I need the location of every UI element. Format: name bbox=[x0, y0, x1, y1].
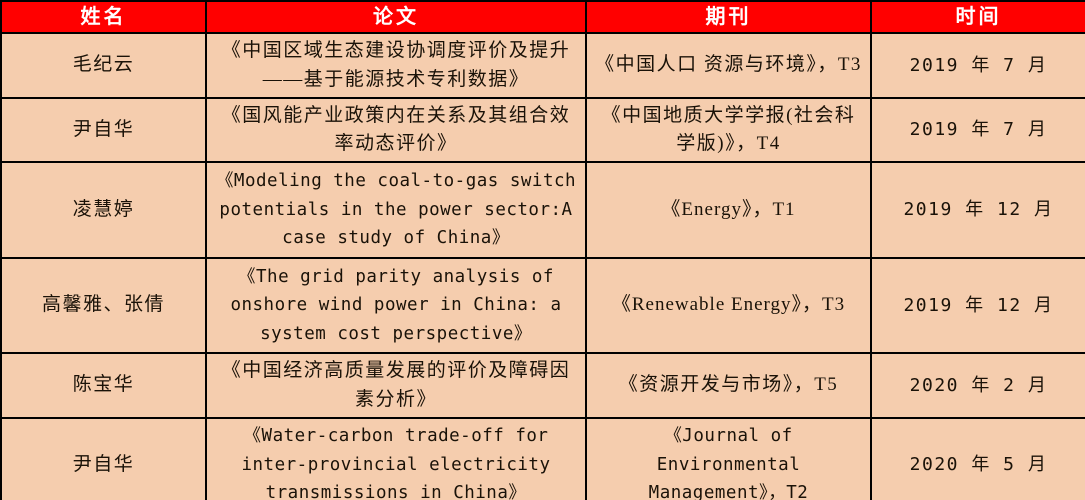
cell-paper: 《Modeling the coal-to-gas switch potenti… bbox=[206, 162, 586, 258]
table-row: 尹自华 《Water-carbon trade-off for inter-pr… bbox=[1, 418, 1085, 500]
cell-paper: 《中国区域生态建设协调度评价及提升——基于能源技术专利数据》 bbox=[206, 33, 586, 98]
cell-journal: 《中国地质大学学报(社会科学版)》，T4 bbox=[586, 98, 871, 162]
date-text: 2019 年 12 月 bbox=[903, 199, 1053, 220]
table-row: 尹自华 《国风能产业政策内在关系及其组合效率动态评价》 《中国地质大学学报(社会… bbox=[1, 98, 1085, 162]
date-text: 2019 年 12 月 bbox=[903, 295, 1053, 316]
header-row: 姓名 论文 期刊 时间 bbox=[1, 1, 1085, 33]
date-text: 2020 年 2 月 bbox=[910, 375, 1048, 396]
cell-author: 陈宝华 bbox=[1, 353, 206, 418]
cell-time: 2019 年 7 月 bbox=[871, 98, 1085, 162]
column-header-journal: 期刊 bbox=[586, 1, 871, 33]
table-row: 毛纪云 《中国区域生态建设协调度评价及提升——基于能源技术专利数据》 《中国人口… bbox=[1, 33, 1085, 98]
cell-journal: 《Journal of Environmental Management》，T2 bbox=[586, 418, 871, 500]
cell-time: 2019 年 12 月 bbox=[871, 162, 1085, 258]
cell-journal: 《Renewable Energy》，T3 bbox=[586, 258, 871, 353]
cell-time: 2019 年 7 月 bbox=[871, 33, 1085, 98]
cell-time: 2020 年 2 月 bbox=[871, 353, 1085, 418]
cell-author: 凌慧婷 bbox=[1, 162, 206, 258]
table-row: 高馨雅、张倩 《The grid parity analysis of onsh… bbox=[1, 258, 1085, 353]
cell-time: 2020 年 5 月 bbox=[871, 418, 1085, 500]
cell-author: 高馨雅、张倩 bbox=[1, 258, 206, 353]
date-text: 2019 年 7 月 bbox=[910, 119, 1048, 140]
cell-paper: 《The grid parity analysis of onshore win… bbox=[206, 258, 586, 353]
cell-journal: 《Energy》，T1 bbox=[586, 162, 871, 258]
cell-paper: 《国风能产业政策内在关系及其组合效率动态评价》 bbox=[206, 98, 586, 162]
cell-journal: 《资源开发与市场》，T5 bbox=[586, 353, 871, 418]
column-header-name: 姓名 bbox=[1, 1, 206, 33]
cell-author: 毛纪云 bbox=[1, 33, 206, 98]
column-header-paper: 论文 bbox=[206, 1, 586, 33]
cell-author: 尹自华 bbox=[1, 418, 206, 500]
cell-time: 2019 年 12 月 bbox=[871, 258, 1085, 353]
date-text: 2020 年 5 月 bbox=[910, 454, 1048, 475]
cell-paper: 《Water-carbon trade-off for inter-provin… bbox=[206, 418, 586, 500]
column-header-time: 时间 bbox=[871, 1, 1085, 33]
table-row: 凌慧婷 《Modeling the coal-to-gas switch pot… bbox=[1, 162, 1085, 258]
cell-author: 尹自华 bbox=[1, 98, 206, 162]
cell-journal: 《中国人口 资源与环境》，T3 bbox=[586, 33, 871, 98]
cell-paper: 《中国经济高质量发展的评价及障碍因素分析》 bbox=[206, 353, 586, 418]
table-body: 毛纪云 《中国区域生态建设协调度评价及提升——基于能源技术专利数据》 《中国人口… bbox=[1, 33, 1085, 500]
publication-table: 姓名 论文 期刊 时间 毛纪云 《中国区域生态建设协调度评价及提升——基于能源技… bbox=[0, 0, 1085, 500]
date-text: 2019 年 7 月 bbox=[910, 55, 1048, 76]
table-header: 姓名 论文 期刊 时间 bbox=[1, 1, 1085, 33]
table-row: 陈宝华 《中国经济高质量发展的评价及障碍因素分析》 《资源开发与市场》，T5 2… bbox=[1, 353, 1085, 418]
publication-table-container: 姓名 论文 期刊 时间 毛纪云 《中国区域生态建设协调度评价及提升——基于能源技… bbox=[0, 0, 1085, 500]
